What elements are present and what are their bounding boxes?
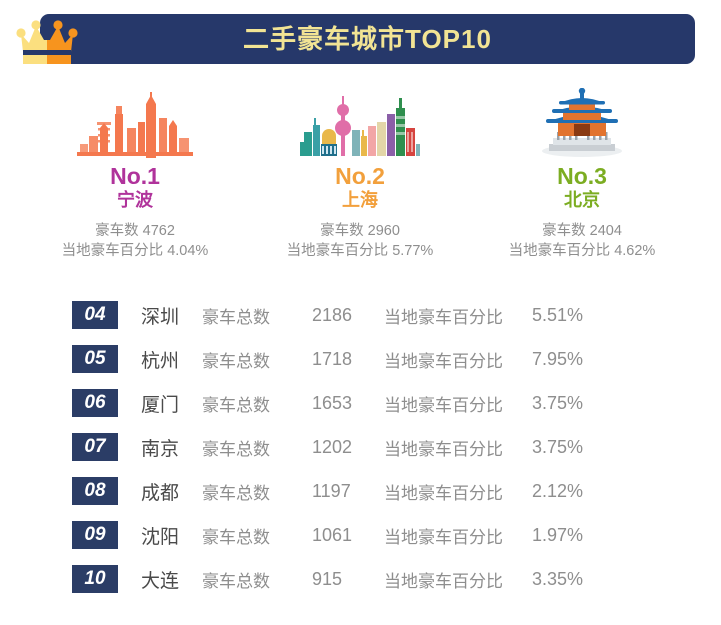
table-row: 09 沈阳 豪车总数 1061 当地豪车百分比 1.97% xyxy=(0,513,721,557)
row-count: 1197 xyxy=(294,481,384,502)
row-city: 成都 xyxy=(118,478,202,505)
crown-icon xyxy=(16,18,78,66)
row-pct-label: 当地豪车百分比 xyxy=(384,391,512,416)
podium-count-2: 2960 xyxy=(368,223,400,239)
row-count: 915 xyxy=(294,569,384,590)
row-count: 1718 xyxy=(294,349,384,370)
podium-item-1: No.1 宁波 豪车数 4762 当地豪车百分比 4.04% xyxy=(25,86,245,261)
row-pct: 2.12% xyxy=(512,481,583,502)
table-row: 07 南京 豪车总数 1202 当地豪车百分比 3.75% xyxy=(0,425,721,469)
row-count-label: 豪车总数 xyxy=(202,567,294,592)
podium-rank-label-2: No.2 xyxy=(250,164,470,188)
row-pct-label: 当地豪车百分比 xyxy=(384,435,512,460)
row-city: 深圳 xyxy=(118,302,202,329)
podium-pct-1: 4.04% xyxy=(167,243,208,259)
row-pct-label: 当地豪车百分比 xyxy=(384,479,512,504)
podium-rank-label-1: No.1 xyxy=(25,164,245,188)
table-row: 10 大连 豪车总数 915 当地豪车百分比 3.35% xyxy=(0,557,721,601)
podium-item-2: No.2 上海 豪车数 2960 当地豪车百分比 5.77% xyxy=(250,86,470,261)
podium-count-label-1: 豪车数 xyxy=(95,223,139,239)
podium-pct-3: 4.62% xyxy=(614,243,655,259)
row-pct-label: 当地豪车百分比 xyxy=(384,523,512,548)
status-badge: 08 xyxy=(72,477,118,505)
podium-item-3: No.3 北京 豪车数 2404 当地豪车百分比 4.62% xyxy=(472,86,692,261)
row-pct-label: 当地豪车百分比 xyxy=(384,347,512,372)
row-city: 沈阳 xyxy=(118,522,202,549)
row-count: 1653 xyxy=(294,393,384,414)
row-count: 1202 xyxy=(294,437,384,458)
podium-count-label-3: 豪车数 xyxy=(542,223,586,239)
row-pct: 3.75% xyxy=(512,437,583,458)
podium-stats-1: 豪车数 4762 当地豪车百分比 4.04% xyxy=(25,221,245,261)
podium-stats-3: 豪车数 2404 当地豪车百分比 4.62% xyxy=(472,221,692,261)
podium-top3: No.1 宁波 豪车数 4762 当地豪车百分比 4.04% xyxy=(0,86,721,276)
row-count-label: 豪车总数 xyxy=(202,303,294,328)
rank-list: 04 深圳 豪车总数 2186 当地豪车百分比 5.51% 05 杭州 豪车总数… xyxy=(0,293,721,601)
table-row: 04 深圳 豪车总数 2186 当地豪车百分比 5.51% xyxy=(0,293,721,337)
row-count-label: 豪车总数 xyxy=(202,391,294,416)
podium-city-name-2: 上海 xyxy=(250,190,470,211)
row-city: 厦门 xyxy=(118,390,202,417)
podium-city-name-1: 宁波 xyxy=(25,190,245,211)
row-count-label: 豪车总数 xyxy=(202,347,294,372)
podium-city-name-3: 北京 xyxy=(472,190,692,211)
podium-pct-label-3: 当地豪车百分比 xyxy=(509,243,611,259)
temple-of-heaven-icon xyxy=(472,86,692,158)
podium-count-1: 4762 xyxy=(143,223,175,239)
status-badge: 05 xyxy=(72,345,118,373)
status-badge: 10 xyxy=(72,565,118,593)
row-pct: 1.97% xyxy=(512,525,583,546)
page-title: 二手豪车城市TOP10 xyxy=(40,14,695,64)
status-badge: 04 xyxy=(72,301,118,329)
podium-pct-label-1: 当地豪车百分比 xyxy=(62,243,164,259)
podium-pct-line-2: 当地豪车百分比 5.77% xyxy=(250,241,470,261)
status-badge: 09 xyxy=(72,521,118,549)
status-badge: 06 xyxy=(72,389,118,417)
podium-pct-label-2: 当地豪车百分比 xyxy=(287,243,389,259)
podium-pct-2: 5.77% xyxy=(392,243,433,259)
row-pct: 5.51% xyxy=(512,305,583,326)
podium-pct-line-1: 当地豪车百分比 4.04% xyxy=(25,241,245,261)
shanghai-skyline-icon xyxy=(250,86,470,158)
row-pct-label: 当地豪车百分比 xyxy=(384,303,512,328)
row-count-label: 豪车总数 xyxy=(202,479,294,504)
table-row: 05 杭州 豪车总数 1718 当地豪车百分比 7.95% xyxy=(0,337,721,381)
podium-rank-label-3: No.3 xyxy=(472,164,692,188)
header: 二手豪车城市TOP10 xyxy=(0,0,721,78)
row-count-label: 豪车总数 xyxy=(202,523,294,548)
row-pct-label: 当地豪车百分比 xyxy=(384,567,512,592)
row-city: 南京 xyxy=(118,434,202,461)
row-city: 杭州 xyxy=(118,346,202,373)
row-pct: 3.35% xyxy=(512,569,583,590)
ningbo-skyline-icon xyxy=(25,86,245,158)
podium-count-3: 2404 xyxy=(590,223,622,239)
status-badge: 07 xyxy=(72,433,118,461)
row-count-label: 豪车总数 xyxy=(202,435,294,460)
podium-stats-2: 豪车数 2960 当地豪车百分比 5.77% xyxy=(250,221,470,261)
row-count: 2186 xyxy=(294,305,384,326)
podium-count-label-2: 豪车数 xyxy=(320,223,364,239)
table-row: 06 厦门 豪车总数 1653 当地豪车百分比 3.75% xyxy=(0,381,721,425)
table-row: 08 成都 豪车总数 1197 当地豪车百分比 2.12% xyxy=(0,469,721,513)
row-pct: 7.95% xyxy=(512,349,583,370)
row-city: 大连 xyxy=(118,566,202,593)
podium-pct-line-3: 当地豪车百分比 4.62% xyxy=(472,241,692,261)
row-pct: 3.75% xyxy=(512,393,583,414)
row-count: 1061 xyxy=(294,525,384,546)
